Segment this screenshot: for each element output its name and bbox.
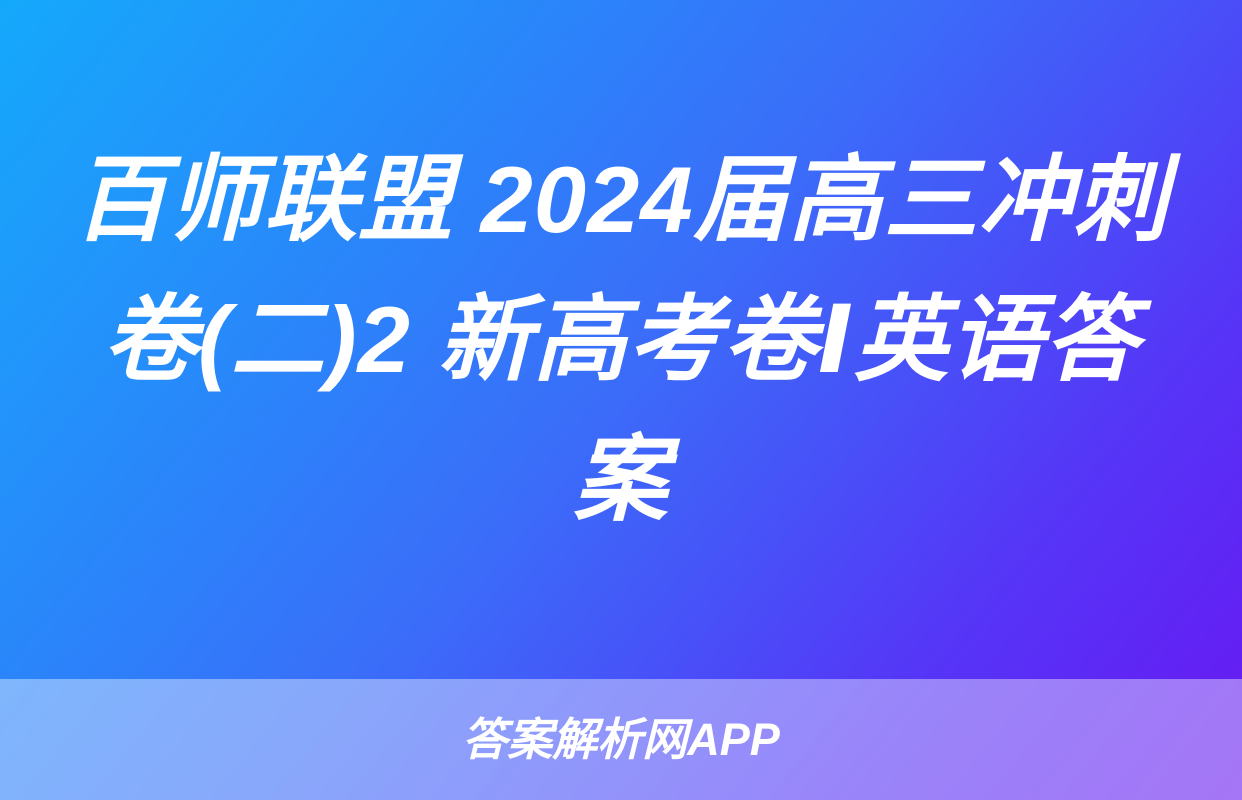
poster-canvas: 百师联盟 2024届高三冲刺卷(二)2 新高考卷Ⅰ英语答案 答案解析网APP — [0, 0, 1242, 800]
watermark-band: 答案解析网APP — [0, 679, 1242, 800]
page-title: 百师联盟 2024届高三冲刺卷(二)2 新高考卷Ⅰ英语答案 — [71, 130, 1171, 550]
app-watermark-label: 答案解析网APP — [462, 717, 780, 762]
title-area: 百师联盟 2024届高三冲刺卷(二)2 新高考卷Ⅰ英语答案 — [0, 0, 1242, 679]
